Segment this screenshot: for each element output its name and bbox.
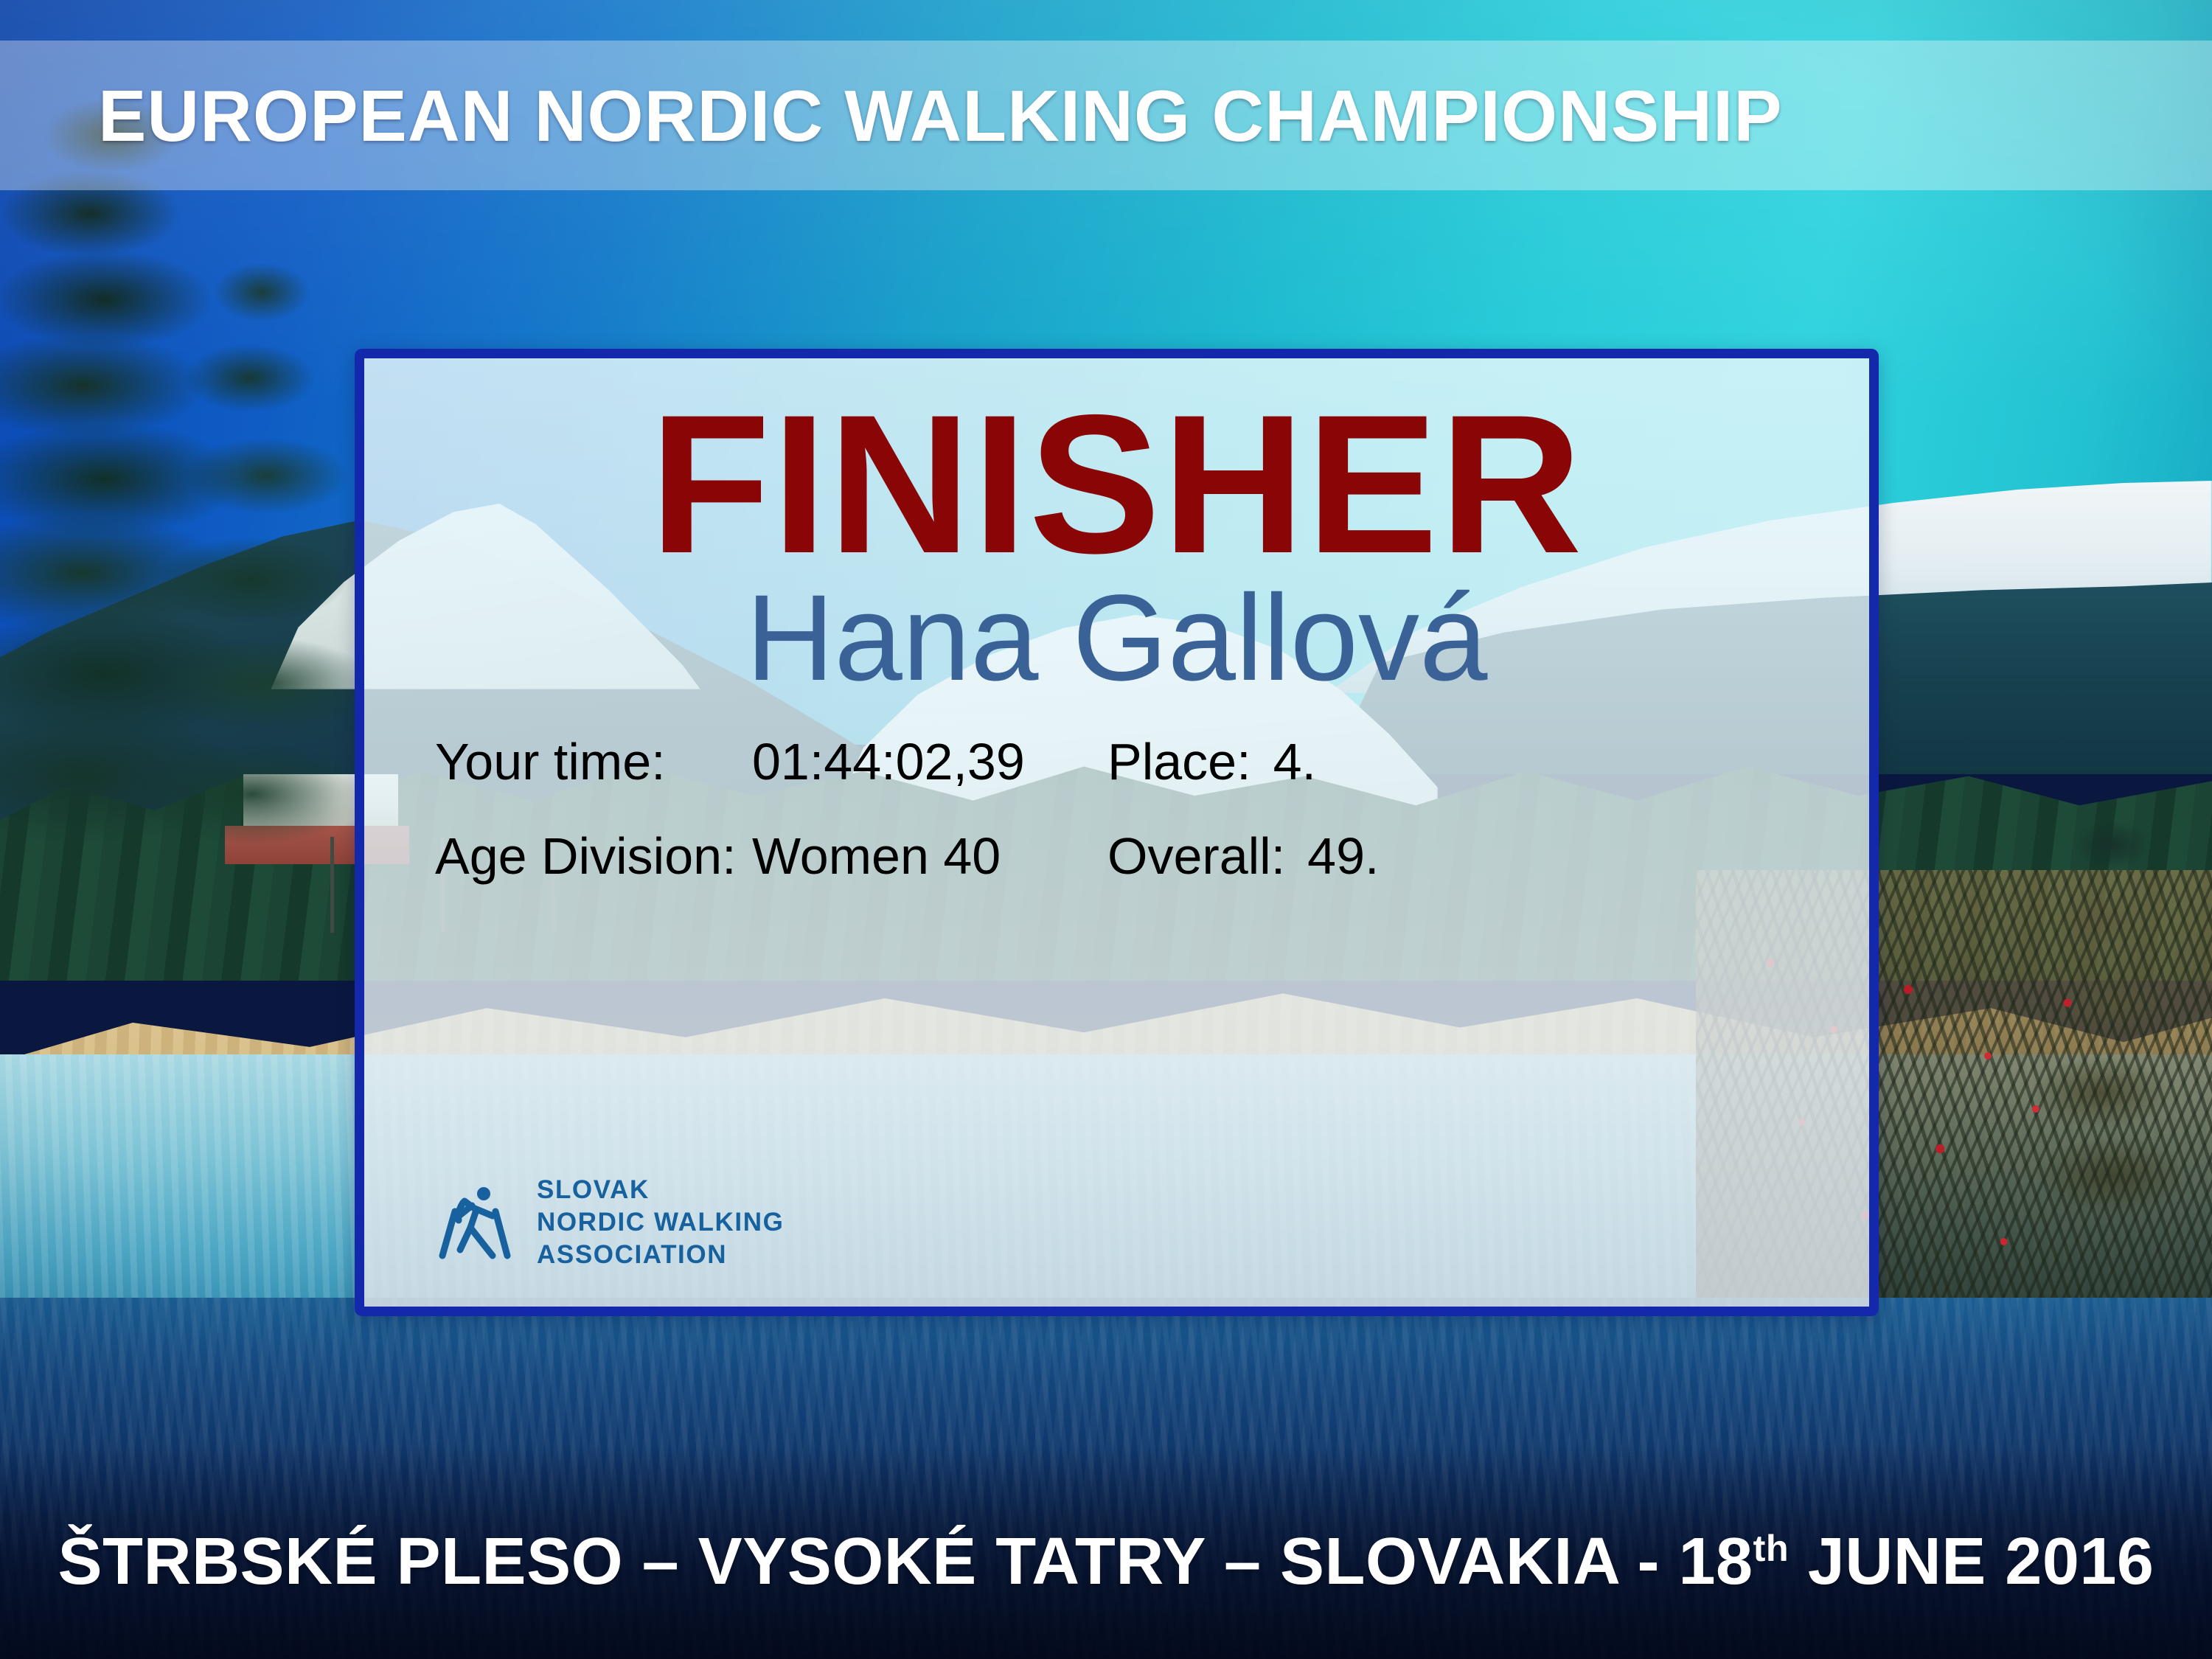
association-logo-text: SLOVAK NORDIC WALKING ASSOCIATION	[537, 1174, 784, 1271]
age-division-label: Age Division:	[435, 830, 752, 882]
header-banner: EUROPEAN NORDIC WALKING CHAMPIONSHIP	[0, 41, 2212, 190]
footer-banner: ŠTRBSKÉ PLESO – VYSOKÉ TATRY – SLOVAKIA …	[0, 1515, 2212, 1659]
your-time-value: 01:44:02,39	[752, 736, 1099, 787]
athlete-name: Hana Gallová	[406, 574, 1828, 703]
certificate-panel: FINISHER Hana Gallová Your time: 01:44:0…	[355, 349, 1879, 1316]
age-division-value: Women 40	[752, 830, 1099, 882]
nordic-walker-icon	[435, 1179, 522, 1266]
place-value: 4.	[1273, 736, 1316, 787]
association-logo: SLOVAK NORDIC WALKING ASSOCIATION	[435, 1174, 784, 1271]
page-title: EUROPEAN NORDIC WALKING CHAMPIONSHIP	[98, 80, 1783, 152]
footer-date: JUNE 2016	[1789, 1525, 2154, 1599]
certificate-panel-inner: FINISHER Hana Gallová Your time: 01:44:0…	[364, 358, 1869, 1307]
logo-line-3: ASSOCIATION	[537, 1239, 784, 1271]
logo-line-1: SLOVAK	[537, 1174, 784, 1206]
footer-location: ŠTRBSKÉ PLESO – VYSOKÉ TATRY – SLOVAKIA …	[58, 1525, 1753, 1599]
your-time-label: Your time:	[435, 736, 752, 787]
finisher-heading: FINISHER	[406, 383, 1828, 585]
event-location-date: ŠTRBSKÉ PLESO – VYSOKÉ TATRY – SLOVAKIA …	[58, 1528, 2154, 1595]
place-label: Place:	[1107, 736, 1251, 787]
result-row-division: Age Division: Women 40 Overall: 49.	[435, 830, 1809, 882]
result-row-time: Your time: 01:44:02,39 Place: 4.	[435, 736, 1809, 787]
results-grid: Your time: 01:44:02,39 Place: 4. Age Div…	[406, 736, 1828, 882]
footer-ordinal-suffix: th	[1753, 1527, 1790, 1569]
overall-label: Overall:	[1107, 830, 1285, 882]
overall-value: 49.	[1307, 830, 1379, 882]
logo-line-2: NORDIC WALKING	[537, 1206, 784, 1239]
